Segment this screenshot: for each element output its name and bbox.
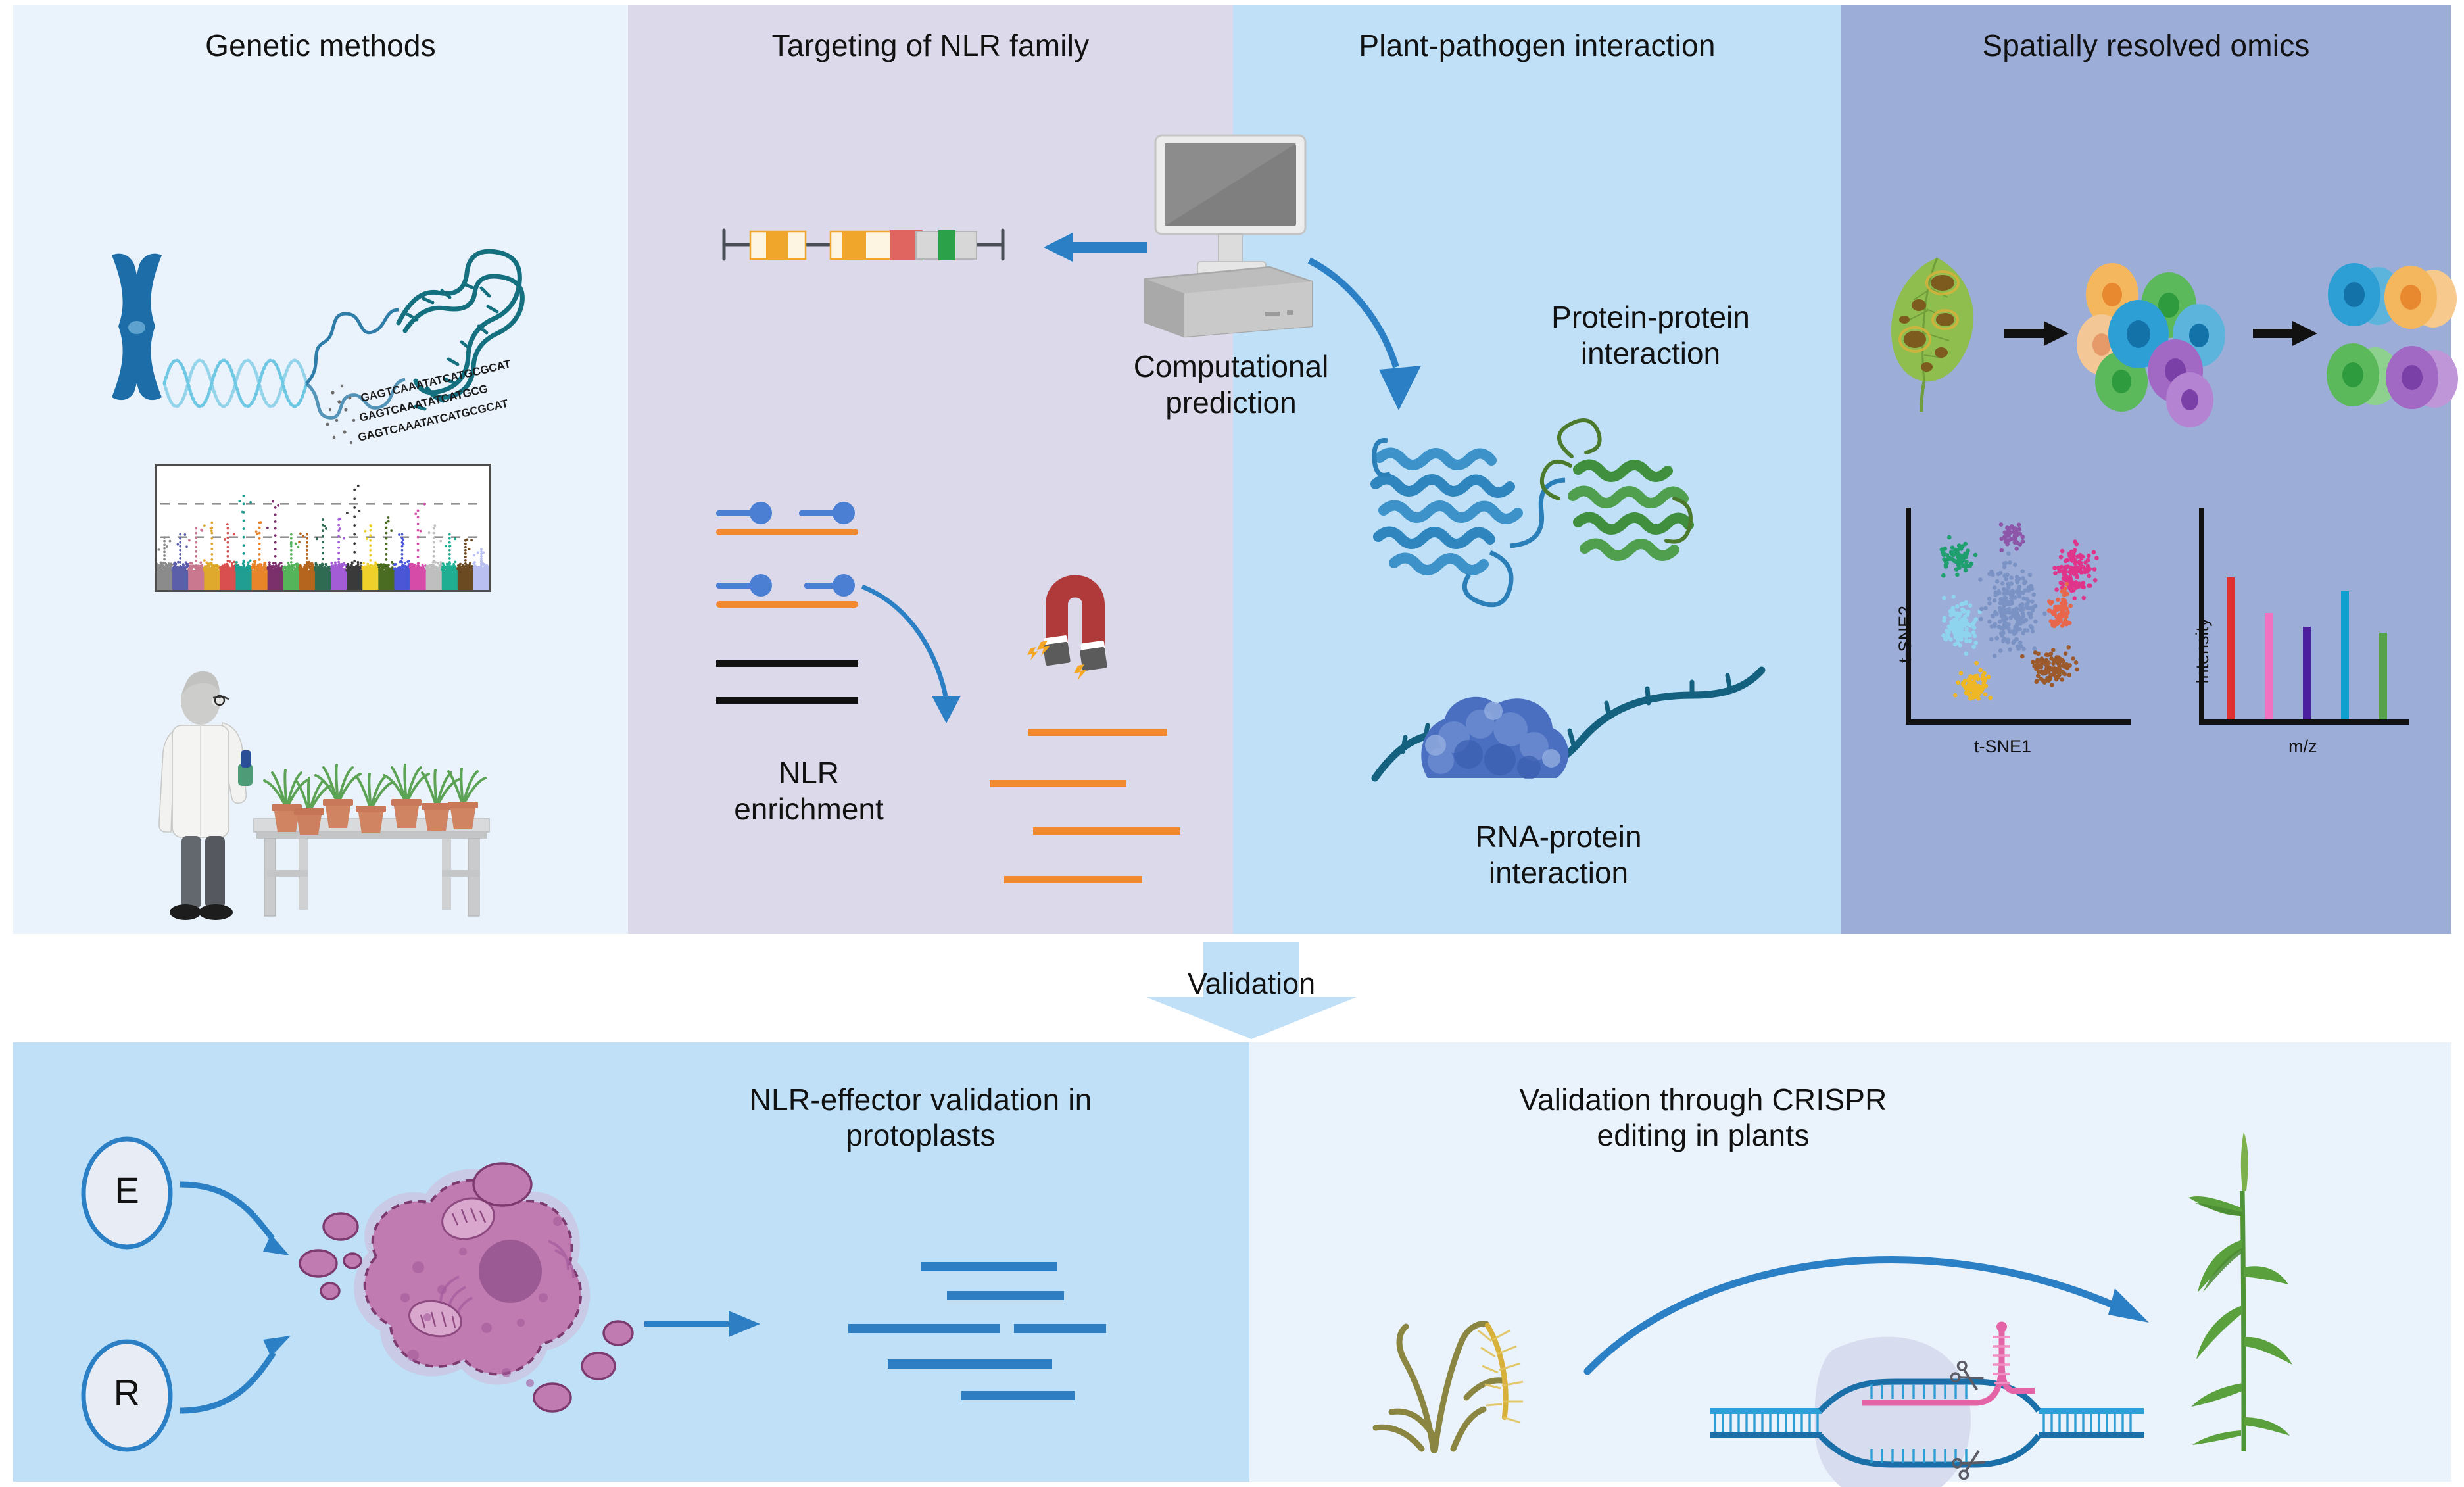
crispr-cas9-complex (1710, 1319, 2144, 1487)
panel-title-nlr-targeting: Targeting of NLR family (628, 28, 1233, 63)
resistant-plant (2183, 1128, 2315, 1457)
protein-globule (1421, 697, 1568, 779)
panel-protoplast-validation: NLR-effector validation in protoplasts E… (13, 1042, 1249, 1482)
protoplast-cell (289, 1121, 631, 1450)
panel-spatially-resolved-omics: Spatially resolved omics (1841, 5, 2451, 934)
chromosome-icon (112, 254, 162, 400)
tsne-x-axis-label: t-SNE1 (1974, 737, 2031, 757)
panel-title-plant-pathogen: Plant-pathogen interaction (1233, 28, 1841, 63)
bait-row-1 (716, 502, 858, 535)
effector-node[interactable]: E (79, 1134, 175, 1252)
arrow-1 (2004, 321, 2069, 346)
panel-title-protoplast-validation: NLR-effector validation in protoplasts (671, 1082, 1171, 1154)
dna-sequence-text: GAGTCAAATATCATGCGCAT GAGTCAAATATCATGCG G… (322, 364, 598, 456)
manhattan-plot-content (157, 466, 489, 590)
nlr-enrichment-label: NLR enrichment (700, 755, 917, 827)
susceptible-plant (1361, 1292, 1578, 1457)
mixed-cell-population (2077, 263, 2225, 427)
mass-spectrum-plot (2177, 502, 2427, 766)
mz-y-axis-label: Intensity (2192, 618, 2213, 684)
validation-arrow-head (1146, 997, 1357, 1039)
figure-canvas: Genetic methods (0, 0, 2464, 1487)
leaf-to-cells-workflow (1881, 242, 2433, 413)
arrow-enrichment (858, 584, 1003, 742)
rna-protein-complex (1365, 661, 1772, 812)
tsne-y-axis-label: t-SNE2 (1895, 606, 1916, 663)
bait-row-2 (716, 574, 858, 608)
sorted-cell-clusters (2327, 263, 2458, 409)
resistance-node[interactable]: R (79, 1337, 175, 1454)
sequencing-reads (848, 1259, 1131, 1411)
effector-node-label: E (79, 1169, 175, 1211)
researcher-with-potted-plants (145, 646, 500, 923)
panel-crispr-validation: Validation through CRISPR editing in pla… (1249, 1042, 2451, 1482)
rna-protein-interaction-label: RNA-protein interaction (1401, 819, 1716, 891)
resistance-node-label: R (79, 1371, 175, 1414)
green-protein (1542, 420, 1691, 556)
dna-left (1710, 1408, 1822, 1438)
mz-x-axis-label: m/z (2288, 737, 2317, 757)
panel-genetic-methods: Genetic methods (13, 5, 628, 934)
arrow-2 (2253, 321, 2317, 346)
captured-fragments (990, 725, 1213, 896)
desktop-computer-icon (1133, 132, 1324, 342)
tsne-scatter-plot (1881, 502, 2157, 766)
protein-protein-interaction-label: Protein-protein interaction (1506, 299, 1795, 372)
validation-arrow: Validation (1146, 942, 1357, 1039)
dna-coil (164, 360, 306, 406)
panel-title-spatial-omics: Spatially resolved omics (1841, 28, 2451, 63)
infected-leaf (1891, 258, 1973, 412)
gene-model-domains (720, 222, 1029, 275)
blue-protein (1374, 441, 1565, 605)
protein-protein-complex (1368, 421, 1749, 638)
validation-arrow-label: Validation (1146, 967, 1357, 1001)
arrow-prediction-to-interaction (1305, 256, 1476, 427)
arrow-to-reads (644, 1304, 763, 1344)
panel-title-crispr-validation: Validation through CRISPR editing in pla… (1394, 1082, 2012, 1154)
dna-right (2039, 1408, 2144, 1438)
lab-bench (254, 819, 489, 916)
panel-title-genetic-methods: Genetic methods (13, 28, 628, 63)
magnet-icon (1023, 556, 1121, 678)
researcher-figure (159, 671, 253, 920)
